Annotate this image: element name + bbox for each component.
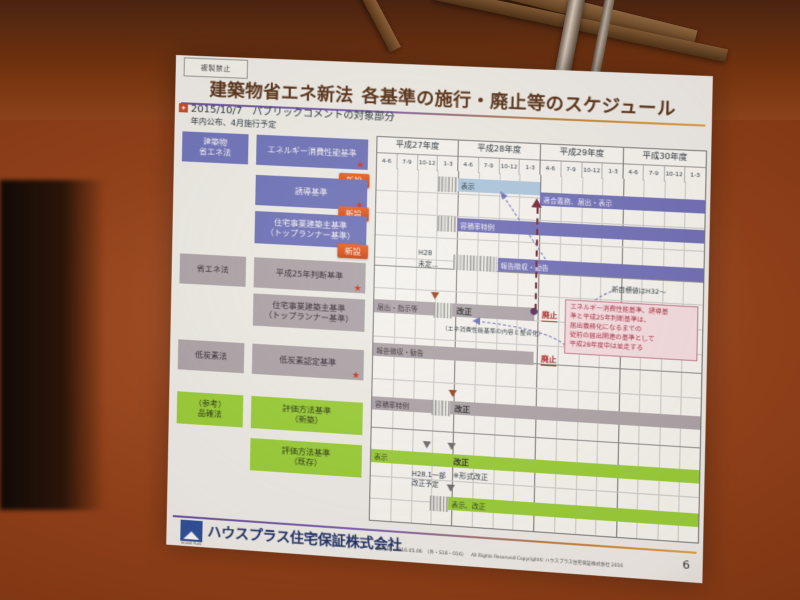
marker-triangle-revision — [448, 390, 456, 398]
badge-new-3: 新設 — [337, 243, 368, 259]
house-plus-logo-icon — [180, 520, 202, 543]
star-icon: ★ — [351, 372, 360, 382]
label-revision-hinkaku: 改正 — [453, 456, 469, 468]
law-box-kenchikubutsu: 建築物省エネ法 — [182, 131, 249, 164]
hatch-segment — [430, 495, 449, 512]
marker-triangle-revision — [447, 443, 455, 451]
logo-caption: HOUSE PLUS — [180, 541, 202, 547]
hatch-segment — [432, 400, 451, 416]
label-h28-partial-2: 改正予定 — [412, 477, 439, 489]
issue-date: 発行日：2016.05.06 （外・S16・016） — [376, 546, 466, 559]
schedule-chart: 平成27年度 4-6 7-9 10-12 1-3 平成28年度 4-6 7-9 … — [369, 136, 707, 544]
standard-box-energy-consumption: エネルギー消費性能基準 — [256, 135, 368, 170]
slide-surface: 複製禁止 建築物省エネ新法各基準の施行・廃止等のスケジュール ✦ 2015/10… — [166, 55, 713, 583]
wall-shadow — [0, 180, 105, 510]
note-marker-icon: ✦ — [179, 103, 188, 112]
standard-box-h25: 平成25年判断基準 — [254, 257, 366, 293]
copyright-text: All Rights Reserved Copyright© ハウスプラス住宅保… — [471, 552, 623, 569]
label-revision-teitanso: 改正 — [454, 403, 470, 415]
photo-scene: 複製禁止 建築物省エネ新法各基準の施行・廃止等のスケジュール ✦ 2015/10… — [0, 0, 800, 600]
standard-box-eval-new: 評価方法基準（新築） — [251, 396, 363, 435]
star-icon: ★ — [355, 161, 364, 171]
marker-triangle-display-revision — [447, 484, 455, 492]
law-box-hinkakuho: （参考）品確法 — [177, 391, 244, 427]
projected-slide: 複製禁止 建築物省エネ新法各基準の施行・廃止等のスケジュール ✦ 2015/10… — [166, 55, 713, 583]
standard-box-teitanso: 低炭素認定基準 — [252, 344, 364, 381]
title-part-2: 各基準の施行・廃止等のスケジュール — [361, 87, 676, 121]
marker-triangle-partial — [423, 441, 431, 449]
standard-box-guidance: 誘導基準 — [255, 175, 367, 211]
page-number: 6 — [682, 558, 690, 572]
standard-box-toprunner-old: 住宅事業建築主基準（トップランナー基準） — [253, 293, 365, 332]
star-icon: ★ — [353, 285, 362, 295]
law-box-shoene: 省エネ法 — [179, 253, 246, 287]
standard-box-eval-existing: 評価方法基準（既存） — [250, 438, 362, 478]
law-box-teitanso: 低炭素法 — [178, 339, 245, 373]
title-part-1: 建築物省エネ新法 — [209, 80, 353, 106]
callout-parallel-operation: エネルギー消費性能基準、誘導基 準と平成25年判断基準は、 届出義務化になるまで… — [564, 299, 698, 361]
